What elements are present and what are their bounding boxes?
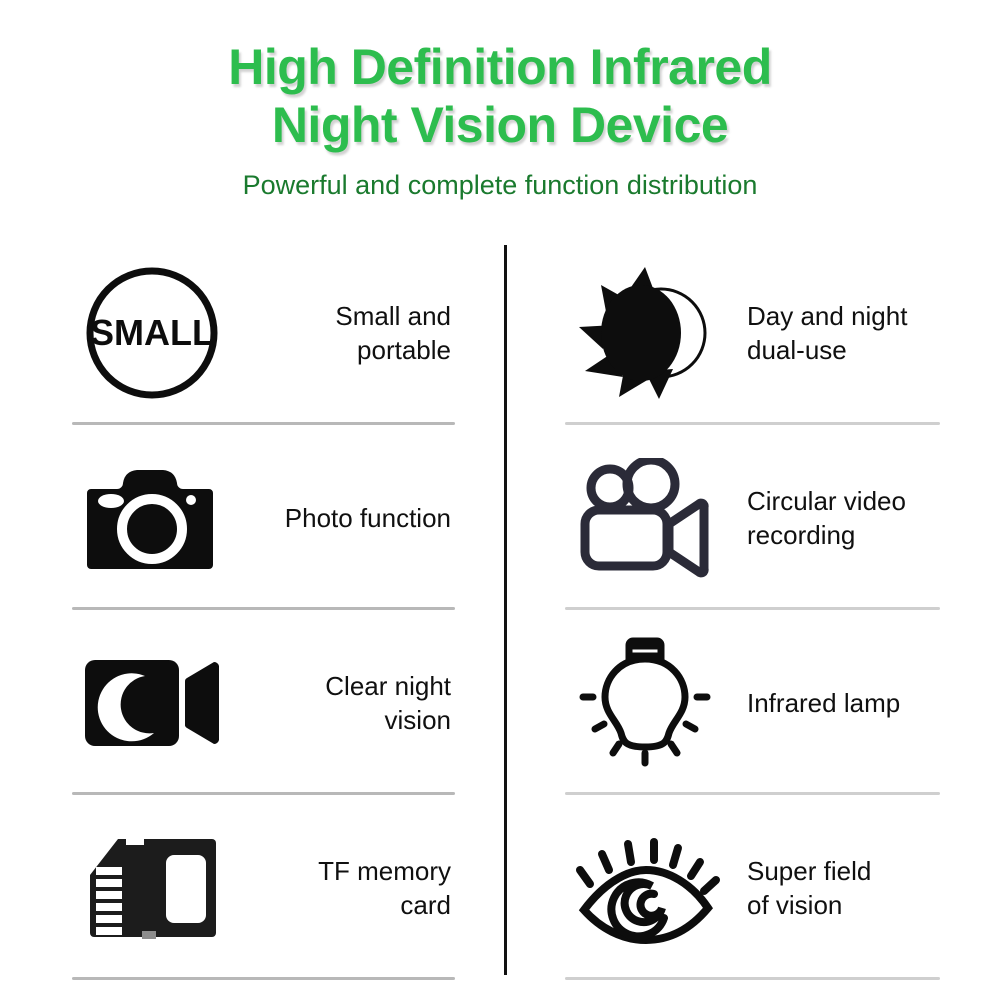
feature-row: Infrared lamp — [565, 610, 940, 795]
feature-row: Super field of vision — [565, 795, 940, 980]
feature-label-line-2: card — [232, 888, 451, 922]
feature-label-line-1: Day and night — [747, 299, 940, 333]
feature-label-line-1: Clear night — [232, 669, 451, 703]
feature-label-line-2: portable — [232, 333, 451, 367]
light-bulb-icon — [565, 633, 725, 773]
small-icon-text: SMALL — [90, 312, 214, 353]
feature-label-line-1: TF memory — [232, 854, 451, 888]
feature-label-line-2: vision — [232, 703, 451, 737]
feature-label: Day and night dual-use — [725, 299, 940, 367]
feature-label: TF memory card — [232, 854, 455, 922]
feature-label-line-2: dual-use — [747, 333, 940, 367]
feature-column-left: SMALL Small and portable — [0, 240, 500, 980]
eye-icon — [565, 818, 725, 958]
feature-label-line-1: Infrared lamp — [747, 686, 940, 720]
feature-label-line-2: of vision — [747, 888, 940, 922]
feature-label-line-1: Super field — [747, 854, 940, 888]
feature-label: Clear night vision — [232, 669, 455, 737]
page-subtitle: Powerful and complete function distribut… — [0, 170, 1000, 201]
feature-label: Circular video recording — [725, 484, 940, 552]
feature-label-line-1: Small and — [232, 299, 451, 333]
feature-row: SMALL Small and portable — [72, 240, 455, 425]
feature-row: Day and night dual-use — [565, 240, 940, 425]
feature-label: Super field of vision — [725, 854, 940, 922]
feature-label: Small and portable — [232, 299, 455, 367]
page-title: High Definition Infrared Night Vision De… — [0, 38, 1000, 154]
feature-label: Photo function — [232, 501, 455, 535]
feature-column-right: Day and night dual-use — [500, 240, 1000, 980]
sun-moon-icon — [565, 263, 725, 403]
feature-label-line-2: recording — [747, 518, 940, 552]
feature-label-line-1: Photo function — [232, 501, 451, 535]
feature-row: TF memory card — [72, 795, 455, 980]
title-line-1: High Definition Infrared — [0, 38, 1000, 96]
small-circle-icon: SMALL — [72, 263, 232, 403]
photo-camera-icon — [72, 448, 232, 588]
column-divider — [504, 245, 507, 975]
feature-row: Clear night vision — [72, 610, 455, 795]
night-vision-camcorder-icon — [72, 633, 232, 773]
title-line-2: Night Vision Device — [0, 96, 1000, 154]
header: High Definition Infrared Night Vision De… — [0, 0, 1000, 201]
feature-label: Infrared lamp — [725, 686, 940, 720]
feature-row: Photo function — [72, 425, 455, 610]
tf-memory-card-icon — [72, 818, 232, 958]
infographic-page: High Definition Infrared Night Vision De… — [0, 0, 1000, 1000]
feature-grid: SMALL Small and portable — [0, 240, 1000, 980]
feature-row: Circular video recording — [565, 425, 940, 610]
feature-label-line-1: Circular video — [747, 484, 940, 518]
movie-camera-icon — [565, 448, 725, 588]
